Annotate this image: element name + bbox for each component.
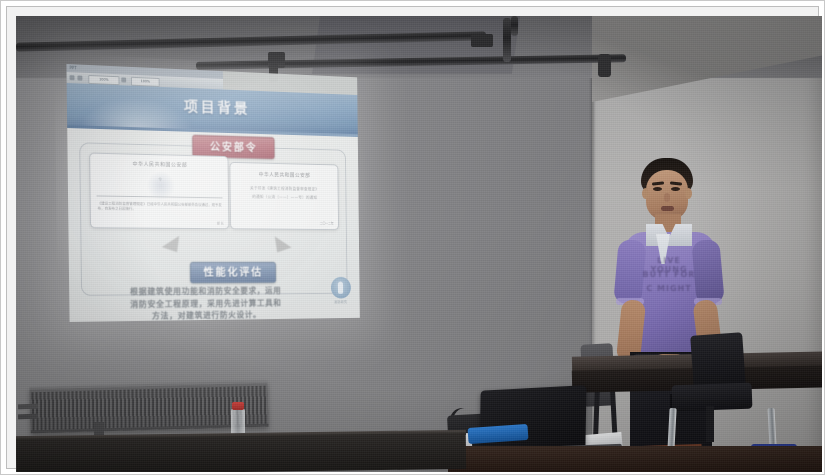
photo-mat: PPT 100% 100% 项目背景 <box>6 6 819 469</box>
document-left-signature: 部 长 <box>217 220 224 225</box>
presenter-mouth <box>661 206 674 211</box>
ceiling-pipe-vertical-1 <box>503 18 511 62</box>
slide-logo-text: 消防研究 <box>329 299 352 304</box>
document-card-left: 中华人民共和国公安部 令 《建设工程消防监督管理规定》已经中华人民共和国公安部部… <box>89 153 229 230</box>
slide-body-text: 根据建筑使用功能和消防安全要求，运用消防安全工程原理，采用先进计算工具和方法，对… <box>128 285 284 322</box>
logo-circle-icon <box>330 277 350 299</box>
document-right-line-2: 的通知（公消〔——〕——号）的通知 <box>231 194 338 201</box>
document-right-signature: 二〇一二年 <box>320 221 334 226</box>
presenter-ear-left <box>642 188 649 199</box>
presenter-shirt-graphic: LIVE YOUNG BUTT FOR C MIGHT <box>638 256 700 298</box>
slide-surface: PPT 100% 100% 项目背景 <box>66 64 359 322</box>
presenter-nose <box>664 193 670 202</box>
document-right-line-1: 关于印发《建筑工程消防监督审查规定》 <box>231 185 338 193</box>
right-desk-surface <box>448 446 822 472</box>
logo-figure-icon <box>338 281 343 293</box>
chair-backrest-right <box>690 332 746 389</box>
radiator-pipe-lower <box>18 414 38 420</box>
badge-performance-evaluation: 性能化评估 <box>190 262 276 283</box>
photograph: PPT 100% 100% 项目背景 <box>16 16 822 472</box>
front-desk <box>16 433 466 472</box>
presenter-ear-right <box>685 188 692 199</box>
projected-slide: PPT 100% 100% 项目背景 <box>66 64 359 322</box>
toolbar-refresh-icon[interactable] <box>121 77 126 82</box>
pipe-joint-1 <box>471 34 493 47</box>
slide-logo: 消防研究 <box>329 277 352 307</box>
document-left-heading: 中华人民共和国公安部 <box>90 160 227 170</box>
document-left-paragraph: 《建设工程消防监督管理规定》已经中华人民共和国公安部部务会议通过，现予发布，自发… <box>98 201 222 212</box>
shirt-graphic-line-2: BUTT FOR <box>638 270 700 279</box>
ceiling-pipe-vertical-2 <box>511 16 518 36</box>
chair-post <box>706 406 714 442</box>
radiator-pipe-upper <box>18 404 38 410</box>
document-right-heading: 中华人民共和国公安部 <box>230 171 337 180</box>
toolbar-forward-icon[interactable] <box>77 75 82 80</box>
presenter-eye-right <box>671 187 680 191</box>
photo-frame: PPT 100% 100% 项目背景 <box>0 0 825 475</box>
slide-body: 公安部令 中华人民共和国公安部 令 《建设工程消防监督管理规定》已经中华人民共和… <box>67 128 360 322</box>
shirt-graphic-line-3: C MIGHT <box>638 284 700 293</box>
document-card-right: 中华人民共和国公安部 关于印发《建筑工程消防监督审查规定》 的通知（公消〔——〕… <box>229 162 339 230</box>
pipe-elbow <box>598 54 611 77</box>
presenter-eye-left <box>653 187 662 191</box>
toolbar-back-icon[interactable] <box>70 75 75 80</box>
water-bottle-cap <box>232 402 244 410</box>
